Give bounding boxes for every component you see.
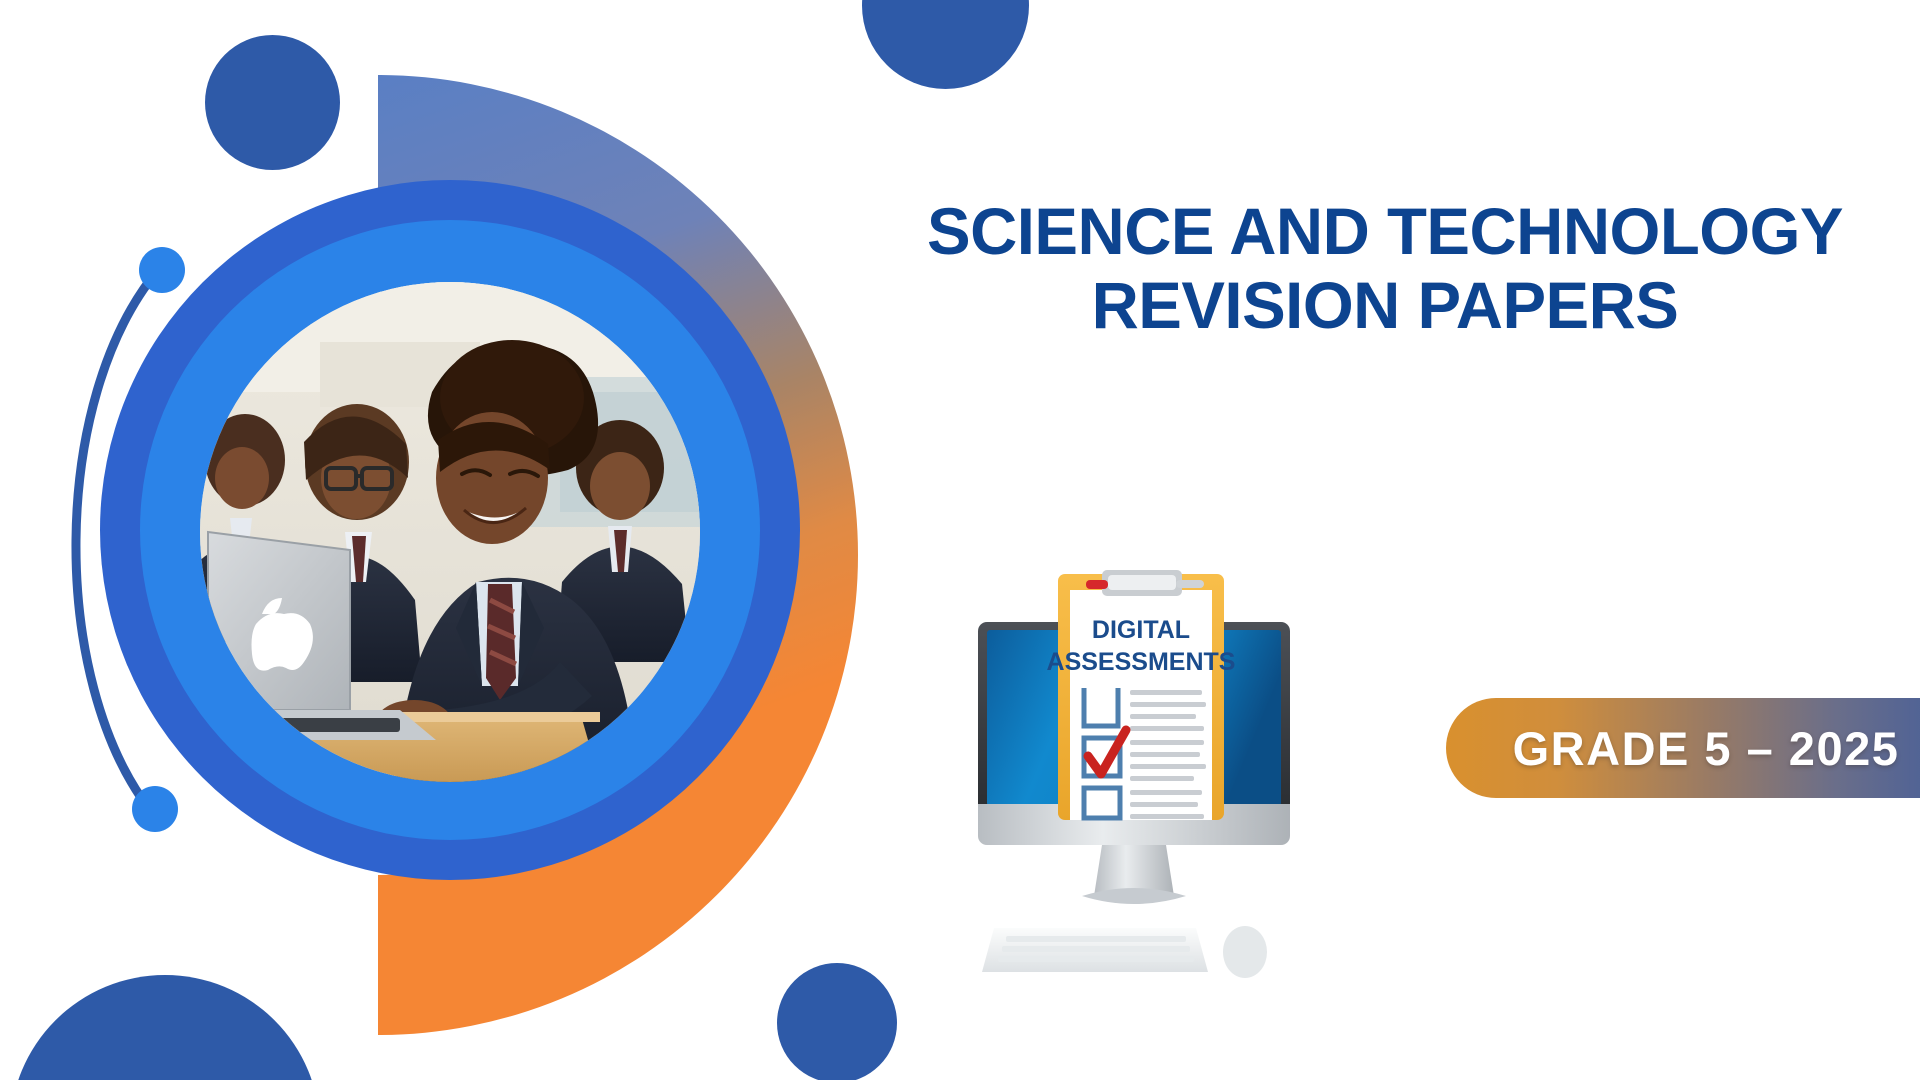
decorative-dot-arc-top bbox=[139, 247, 185, 293]
clipboard-title-line-2: ASSESSMENTS bbox=[1047, 648, 1236, 676]
desktop-computer-illustration: DIGITAL ASSESSMENTS bbox=[960, 560, 1380, 1020]
decorative-circle-bottom-left bbox=[10, 975, 320, 1080]
grade-badge-label: GRADE 5 – 2025 bbox=[1493, 721, 1900, 776]
poster-canvas: SCIENCE AND TECHNOLOGY REVISION PAPERS bbox=[0, 0, 1920, 1080]
poster-title-line-1: SCIENCE AND TECHNOLOGY bbox=[885, 195, 1885, 269]
decorative-dot-arc-bottom bbox=[132, 786, 178, 832]
clipboard-title-line-1: DIGITAL bbox=[1092, 616, 1190, 644]
classroom-photo bbox=[200, 282, 700, 782]
decorative-circle-top-left bbox=[205, 35, 340, 170]
poster-title: SCIENCE AND TECHNOLOGY REVISION PAPERS bbox=[880, 195, 1890, 343]
grade-badge: GRADE 5 – 2025 bbox=[1446, 698, 1920, 798]
poster-title-line-2: REVISION PAPERS bbox=[885, 269, 1885, 343]
